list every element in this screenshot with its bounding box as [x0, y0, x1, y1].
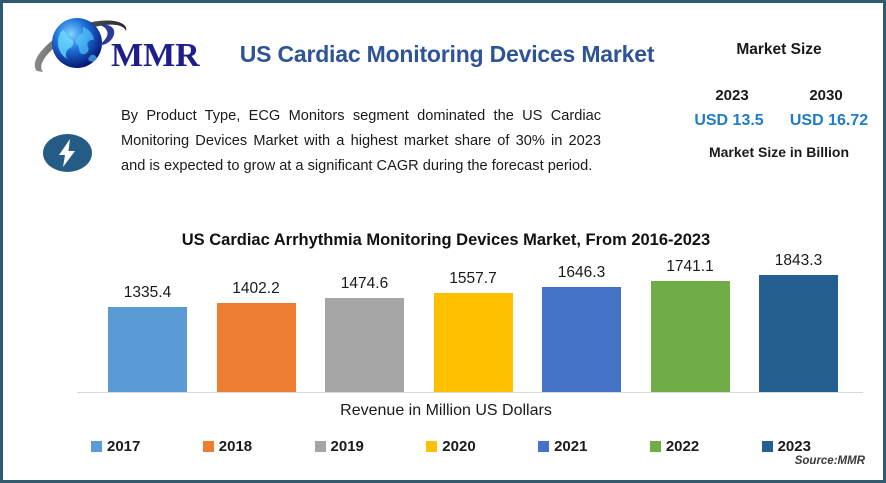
legend-swatch-icon: [203, 441, 214, 452]
legend-label: 2018: [219, 438, 252, 455]
legend-swatch-icon: [762, 441, 773, 452]
bar-value-label: 1402.2: [217, 280, 296, 298]
bar-group: 1646.3: [542, 258, 621, 393]
bar-value-label: 1474.6: [325, 275, 404, 293]
chart-x-axis-label: Revenue in Million US Dollars: [3, 402, 886, 420]
market-size-unit-note: Market Size in Billion: [679, 144, 879, 160]
bar-2018[interactable]: [217, 303, 296, 393]
bar-group: 1474.6: [325, 258, 404, 393]
bar-value-label: 1335.4: [108, 284, 187, 302]
bar-value-label: 1646.3: [542, 264, 621, 282]
chart-baseline: [77, 392, 863, 393]
legend-label: 2022: [666, 438, 699, 455]
legend-item-2017[interactable]: 2017: [91, 438, 140, 455]
summary-paragraph: By Product Type, ECG Monitors segment do…: [121, 104, 601, 179]
bar-group: 1843.3: [759, 258, 838, 393]
bar-chart-plot: 1335.41402.21474.61557.71646.31741.11843…: [3, 258, 886, 393]
bar-value-label: 1843.3: [759, 252, 838, 270]
market-size-values: USD 13.5 USD 16.72: [679, 112, 879, 130]
market-size-year-base: 2023: [689, 87, 775, 104]
legend-item-2019[interactable]: 2019: [315, 438, 364, 455]
legend-item-2020[interactable]: 2020: [426, 438, 475, 455]
bar-2017[interactable]: [108, 307, 187, 393]
legend-item-2022[interactable]: 2022: [650, 438, 699, 455]
legend-label: 2017: [107, 438, 140, 455]
chart-title: US Cardiac Arrhythmia Monitoring Devices…: [3, 231, 886, 250]
bar-value-label: 1557.7: [434, 270, 513, 288]
logo-text: MMR: [111, 37, 200, 74]
market-size-heading: Market Size: [679, 41, 879, 59]
bar-group: 1741.1: [651, 258, 730, 393]
market-size-panel: Market Size 2023 2030 USD 13.5 USD 16.72…: [679, 41, 879, 160]
bar-2020[interactable]: [434, 293, 513, 393]
bar-2023[interactable]: [759, 275, 838, 393]
legend-item-2023[interactable]: 2023: [762, 438, 811, 455]
bar-group: 1557.7: [434, 258, 513, 393]
page-title: US Cardiac Monitoring Devices Market: [221, 41, 673, 68]
globe-icon: MMR: [25, 13, 215, 85]
market-size-value-base: USD 13.5: [681, 112, 777, 130]
legend-swatch-icon: [538, 441, 549, 452]
legend-label: 2021: [554, 438, 587, 455]
market-size-years: 2023 2030: [679, 87, 879, 104]
bar-group: 1335.4: [108, 258, 187, 393]
infographic-root: MMR US Cardiac Monitoring Devices Market…: [0, 0, 886, 483]
bar-2022[interactable]: [651, 281, 730, 393]
company-logo: MMR: [25, 13, 215, 85]
chart-legend: 2017201820192020202120222023: [91, 438, 811, 455]
source-note: Source:MMR: [795, 455, 865, 467]
bolt-icon: [43, 132, 92, 174]
market-size-value-forecast: USD 16.72: [781, 112, 877, 130]
market-size-year-forecast: 2030: [783, 87, 869, 104]
bar-2019[interactable]: [325, 298, 404, 393]
legend-swatch-icon: [426, 441, 437, 452]
bar-2021[interactable]: [542, 287, 621, 393]
legend-label: 2023: [778, 438, 811, 455]
bar-value-label: 1741.1: [651, 258, 730, 276]
legend-label: 2019: [331, 438, 364, 455]
bar-group: 1402.2: [217, 258, 296, 393]
legend-swatch-icon: [91, 441, 102, 452]
legend-swatch-icon: [315, 441, 326, 452]
legend-label: 2020: [442, 438, 475, 455]
legend-swatch-icon: [650, 441, 661, 452]
legend-item-2018[interactable]: 2018: [203, 438, 252, 455]
legend-item-2021[interactable]: 2021: [538, 438, 587, 455]
